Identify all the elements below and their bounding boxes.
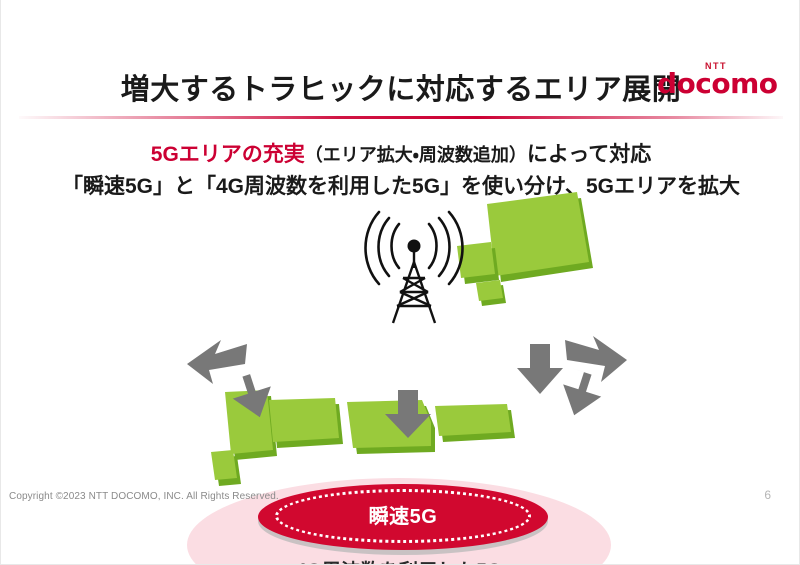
arrow-right (563, 334, 635, 396)
logo-docomo-text: docomo (657, 70, 775, 98)
subtitle-line-1: 5Gエリアの充実（エリア拡大・周波数追加）によって対応 (1, 139, 800, 171)
arrow-down-left (381, 388, 435, 444)
title-divider (19, 116, 783, 119)
slide-canvas: 増大するトラヒックに対応するエリア展開 NTT docomo 5Gエリアの充実（… (0, 0, 800, 565)
copyright-footer: Copyright ©2023 NTT DOCOMO, INC. All Rig… (9, 491, 279, 502)
arrow-lower-left (223, 370, 285, 432)
coverage-diagram: 瞬速5G 4G周波数を利用した5G (1, 190, 800, 490)
outer-ellipse-label: 4G周波数を利用した5G (187, 556, 611, 565)
docomo-logo: NTT docomo (657, 62, 775, 106)
inner-ellipse-label: 瞬速5G (258, 500, 548, 529)
subtitle-highlight: 5Gエリアの充実 (151, 143, 305, 166)
cell-tower-icon (359, 210, 469, 325)
subtitle-line1-rest: によって対応 (527, 143, 651, 166)
page-number: 6 (764, 488, 771, 502)
subtitle-paren: （エリア拡大・周波数追加） (305, 145, 527, 165)
